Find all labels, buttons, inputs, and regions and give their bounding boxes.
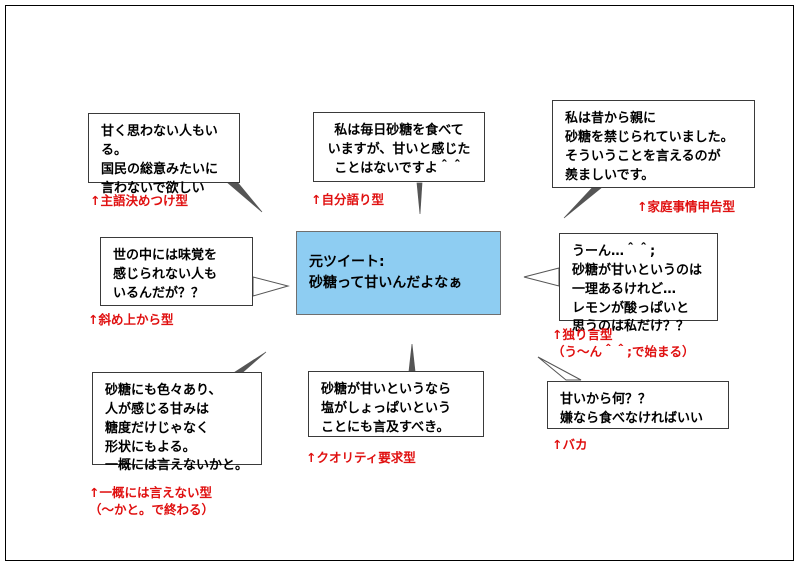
label-family-circumstances: ↑家庭事情申告型 — [637, 199, 800, 216]
label-condescending: ↑斜め上から型 — [88, 312, 258, 329]
bubble-so-what[interactable]: 甘いから何？？ 嫌なら食べなければいい — [547, 381, 729, 429]
label-quality-demand: ↑クオリティ要求型 — [306, 450, 486, 467]
label-subject-assumption: ↑主語決めつけ型 — [90, 193, 250, 210]
label-cannot-generalize: ↑一概には言えない型 （〜かと。で終わる） — [89, 485, 289, 519]
diagram-canvas: 甘く思わない人もいる。 国民の総意みたいに 言わないで欲しい ↑主語決めつけ型 … — [0, 0, 800, 566]
bubble-condescending[interactable]: 世の中には味覚を 感じられない人も いるんだが？？ — [100, 237, 253, 306]
label-self-narration: ↑自分語り型 — [311, 192, 471, 209]
bubble-monologue[interactable]: うーん…＾＾; 砂糖が甘いというのは 一理あるけれど… レモンが酸っぱいと 思う… — [559, 233, 718, 321]
label-so-what: ↑バカ — [552, 437, 692, 454]
center-original-tweet[interactable]: 元ツイート: 砂糖って甘いんだよなぁ — [296, 231, 501, 315]
bubble-cannot-generalize[interactable]: 砂糖にも色々あり、 人が感じる甘みは 糖度だけじゃなく 形状にもよる。 一概には… — [92, 372, 262, 465]
bubble-subject-assumption[interactable]: 甘く思わない人もいる。 国民の総意みたいに 言わないで欲しい — [88, 113, 240, 183]
bubble-quality-demand[interactable]: 砂糖が甘いというなら 塩がしょっぱいという ことにも言及すべき。 — [308, 371, 484, 437]
bubble-family-circumstances[interactable]: 私は昔から親に 砂糖を禁じられていました。 そういうことを言えるのが 羨ましいで… — [552, 100, 755, 188]
bubble-self-narration[interactable]: 私は毎日砂糖を食べて いますが、甘いと感じた ことはないですよ＾＾ — [313, 112, 485, 182]
label-monologue: ↑独り言型 （う〜ん＾＾;で始まる） — [552, 327, 752, 361]
